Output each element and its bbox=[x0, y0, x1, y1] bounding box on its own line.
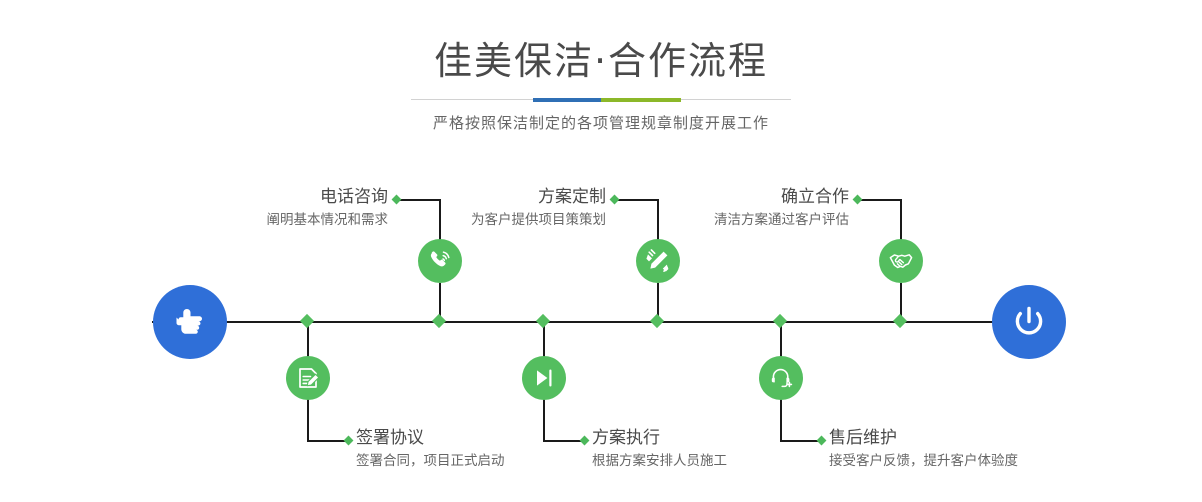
step-label-5: 确立合作 清洁方案通过客户评估 bbox=[611, 186, 849, 230]
connector-2-horizontal bbox=[307, 440, 348, 442]
connector-5-node-to-label bbox=[900, 199, 902, 240]
timeline-end-node[interactable] bbox=[992, 285, 1066, 359]
handshake-icon bbox=[888, 248, 914, 274]
step-desc-6: 接受客户反馈，提升客户体验度 bbox=[829, 451, 1018, 471]
step-node-3[interactable] bbox=[636, 239, 680, 283]
power-button-icon bbox=[1008, 301, 1050, 343]
axis-marker-6 bbox=[773, 314, 787, 328]
step-title-6: 售后维护 bbox=[829, 427, 1018, 449]
pencil-ruler-icon bbox=[645, 248, 671, 274]
step-label-3: 方案定制 为客户提供项目策策划 bbox=[368, 186, 606, 230]
connector-4-horizontal bbox=[543, 440, 584, 442]
play-execute-icon bbox=[531, 365, 557, 391]
timeline: 电话咨询 阐明基本情况和需求 签署协议 签署合同，项目正式启动 bbox=[0, 0, 1202, 502]
label-marker-2 bbox=[344, 436, 354, 446]
axis-marker-4 bbox=[536, 314, 550, 328]
step-title-4: 方案执行 bbox=[592, 427, 727, 449]
connector-6-node-to-label bbox=[780, 399, 782, 441]
pointing-hand-icon bbox=[170, 302, 210, 342]
step-desc-2: 签署合同，项目正式启动 bbox=[356, 451, 505, 471]
step-label-6: 售后维护 接受客户反馈，提升客户体验度 bbox=[829, 427, 1018, 471]
step-node-4[interactable] bbox=[522, 356, 566, 400]
axis-marker-2 bbox=[300, 314, 314, 328]
step-node-6[interactable] bbox=[759, 356, 803, 400]
connector-5-horizontal bbox=[860, 199, 901, 201]
step-title-3: 方案定制 bbox=[368, 186, 606, 208]
timeline-start-node[interactable] bbox=[153, 285, 227, 359]
step-title-5: 确立合作 bbox=[611, 186, 849, 208]
timeline-axis bbox=[152, 321, 1050, 323]
step-desc-3: 为客户提供项目策策划 bbox=[368, 210, 606, 230]
step-title-1: 电话咨询 bbox=[153, 186, 388, 208]
process-flow-infographic: 佳美保洁·合作流程 严格按照保洁制定的各项管理规章制度开展工作 bbox=[0, 0, 1202, 502]
phone-ringing-icon bbox=[427, 248, 453, 274]
step-node-2[interactable] bbox=[286, 356, 330, 400]
step-desc-4: 根据方案安排人员施工 bbox=[592, 451, 727, 471]
step-title-2: 签署协议 bbox=[356, 427, 505, 449]
document-edit-icon bbox=[295, 365, 321, 391]
step-desc-1: 阐明基本情况和需求 bbox=[153, 210, 388, 230]
headset-support-icon bbox=[768, 365, 794, 391]
label-marker-4 bbox=[580, 436, 590, 446]
step-node-1[interactable] bbox=[418, 239, 462, 283]
step-label-4: 方案执行 根据方案安排人员施工 bbox=[592, 427, 727, 471]
axis-marker-5 bbox=[893, 314, 907, 328]
step-label-1: 电话咨询 阐明基本情况和需求 bbox=[153, 186, 388, 230]
axis-marker-3 bbox=[650, 314, 664, 328]
step-node-5[interactable] bbox=[879, 239, 923, 283]
connector-6-horizontal bbox=[780, 440, 821, 442]
connector-2-node-to-label bbox=[307, 399, 309, 441]
axis-marker-1 bbox=[432, 314, 446, 328]
step-desc-5: 清洁方案通过客户评估 bbox=[611, 210, 849, 230]
step-label-2: 签署协议 签署合同，项目正式启动 bbox=[356, 427, 505, 471]
connector-4-node-to-label bbox=[543, 399, 545, 441]
label-marker-6 bbox=[817, 436, 827, 446]
label-marker-5 bbox=[853, 195, 863, 205]
